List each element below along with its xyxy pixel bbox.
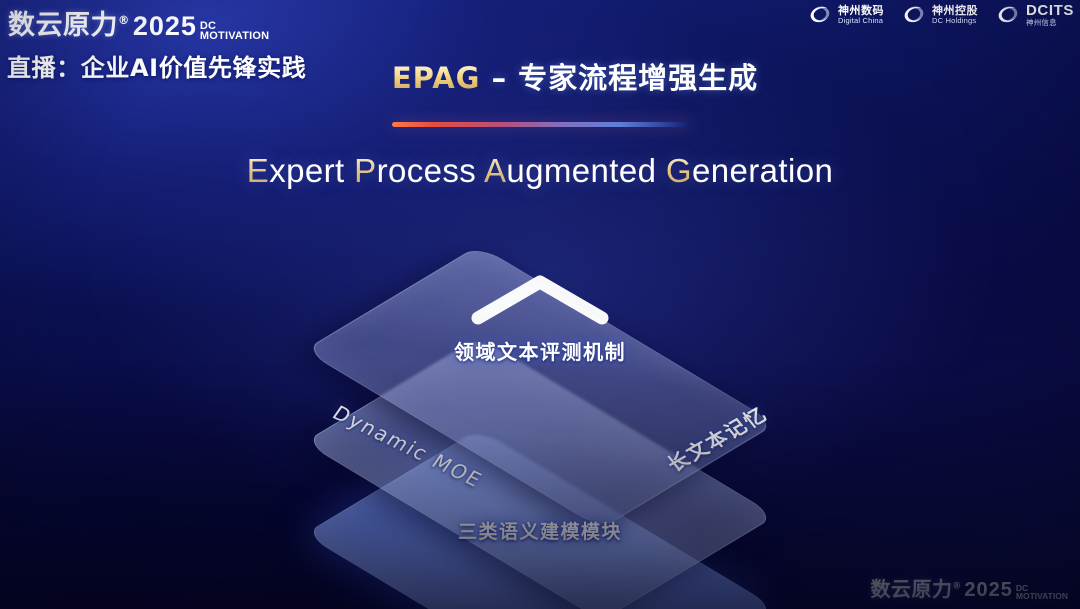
brand-logo-cn: 数云原力® bbox=[8, 3, 130, 42]
watermark-dc-motivation: DC MOTIVATION bbox=[1016, 585, 1068, 601]
event-brand-logo: 数云原力® 2025 DC MOTIVATION bbox=[8, 3, 269, 42]
registered-mark: ® bbox=[118, 13, 130, 27]
partner-logo-text: 神州控股 DC Holdings bbox=[932, 5, 978, 25]
subtitle-word-generation: Generation bbox=[666, 152, 833, 189]
slide-canvas: 数云原力® 2025 DC MOTIVATION 直播：企业AI价值先锋实践 神… bbox=[0, 0, 1080, 609]
partner-name-en: DC Holdings bbox=[932, 17, 978, 25]
partner-logo-text: DCITS 神州信息 bbox=[1026, 3, 1074, 27]
page-title: EPAG – 专家流程增强生成 bbox=[0, 55, 1080, 97]
title-acronym: EPAG bbox=[392, 61, 481, 95]
title-dash: – bbox=[480, 61, 518, 95]
partner-logo-group: 神州数码 Digital China 神州控股 DC Holdings DCIT… bbox=[807, 2, 1074, 28]
dc-holdings-swoosh-icon bbox=[901, 2, 927, 28]
brand-logo-motivation: MOTIVATION bbox=[200, 31, 269, 41]
partner-name-en: Digital China bbox=[838, 17, 884, 25]
subtitle-word-augmented: Augmented bbox=[484, 152, 656, 189]
partner-name-en: DCITS bbox=[1026, 3, 1074, 19]
dcits-swoosh-icon bbox=[995, 2, 1021, 28]
partner-logo-text: 神州数码 Digital China bbox=[838, 5, 884, 25]
digital-china-swoosh-icon bbox=[807, 2, 833, 28]
gradient-divider bbox=[392, 122, 692, 127]
subtitle-word-process: Process bbox=[354, 152, 476, 189]
partner-logo-dc-holdings: 神州控股 DC Holdings bbox=[901, 2, 978, 28]
watermark-cn: 数云原力® bbox=[871, 573, 962, 602]
layer-stack-diagram: 领域文本评测机制 Dynamic MOE 长文本记忆 三类语义建模模块 bbox=[280, 236, 800, 576]
title-chinese: 专家流程增强生成 bbox=[518, 61, 758, 95]
footer-watermark-logo: 数云原力® 2025 DC MOTIVATION bbox=[871, 573, 1068, 602]
subtitle-word-expert: Expert bbox=[247, 152, 345, 189]
brand-logo-dc-motivation: DC MOTIVATION bbox=[200, 21, 269, 41]
watermark-motivation: MOTIVATION bbox=[1016, 593, 1068, 601]
subtitle: Expert Process Augmented Generation bbox=[0, 152, 1080, 190]
watermark-year: 2025 bbox=[964, 579, 1013, 602]
brand-logo-year: 2025 bbox=[133, 11, 197, 42]
registered-mark: ® bbox=[953, 580, 962, 590]
partner-name-cn: 神州信息 bbox=[1026, 19, 1074, 27]
partner-logo-digital-china: 神州数码 Digital China bbox=[807, 2, 884, 28]
partner-logo-dcits: DCITS 神州信息 bbox=[995, 2, 1074, 28]
